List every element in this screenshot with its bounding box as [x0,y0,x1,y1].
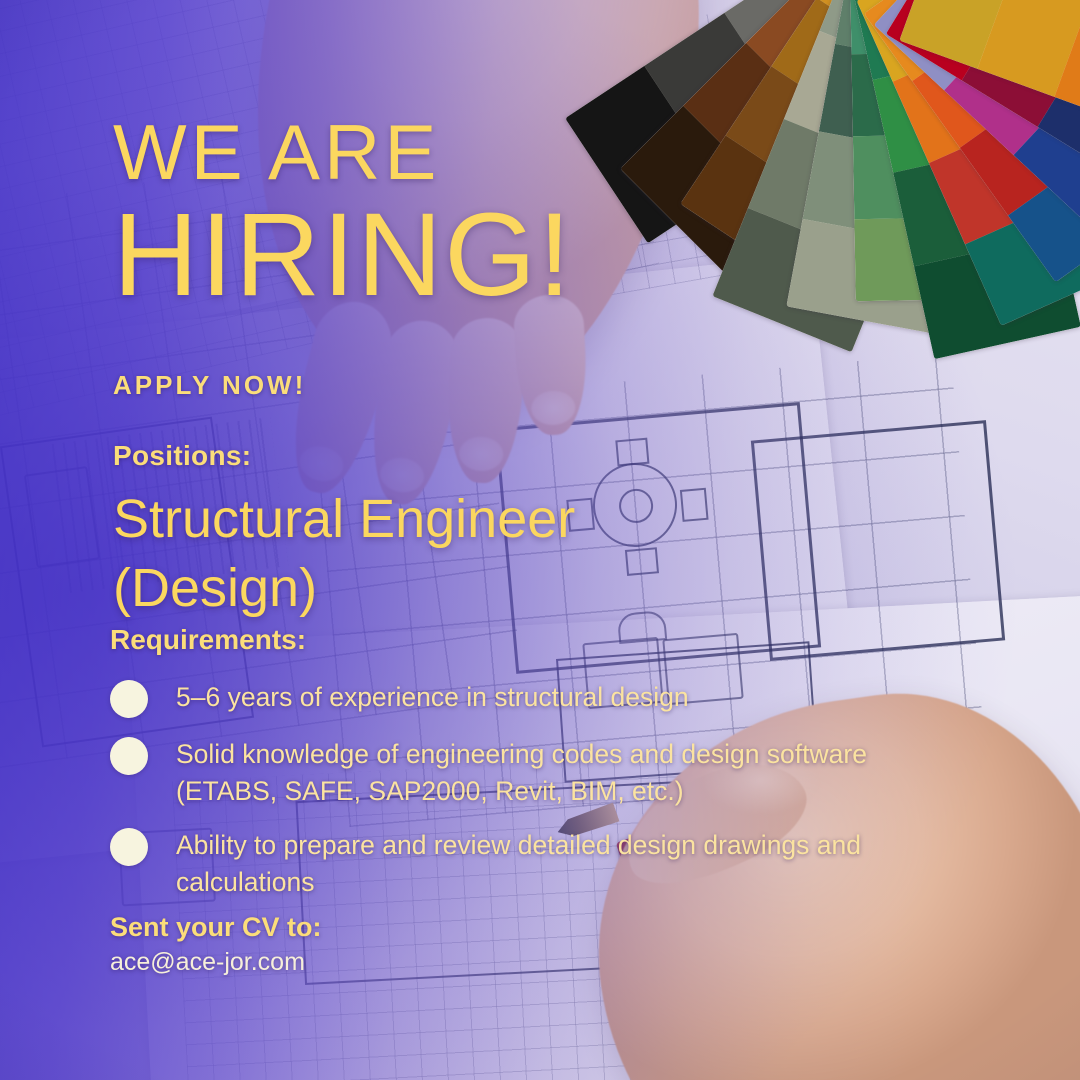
requirement-item: Ability to prepare and review detailed d… [110,826,870,900]
hiring-poster: ACE WE ARE HIRING! APPLY NOW! Positions:… [0,0,1080,1080]
call-to-action: APPLY NOW! [113,370,306,401]
requirement-text: 5–6 years of experience in structural de… [176,678,689,716]
cv-label: Sent your CV to: [110,912,322,943]
requirement-item: 5–6 years of experience in structural de… [110,678,870,718]
requirement-text: Ability to prepare and review detailed d… [176,826,870,900]
bullet-icon [110,828,148,866]
requirement-text: Solid knowledge of engineering codes and… [176,735,870,809]
requirement-item: Solid knowledge of engineering codes and… [110,735,870,809]
headline-line-1: WE ARE [113,113,440,191]
requirements-list: 5–6 years of experience in structural de… [110,678,870,917]
headline-line-2: HIRING! [113,196,573,314]
job-title: Structural Engineer (Design) [113,485,753,623]
positions-label: Positions: [113,440,251,472]
bullet-icon [110,680,148,718]
requirements-label: Requirements: [110,624,306,656]
cv-email[interactable]: ace@ace-jor.com [110,948,305,977]
bullet-icon [110,737,148,775]
